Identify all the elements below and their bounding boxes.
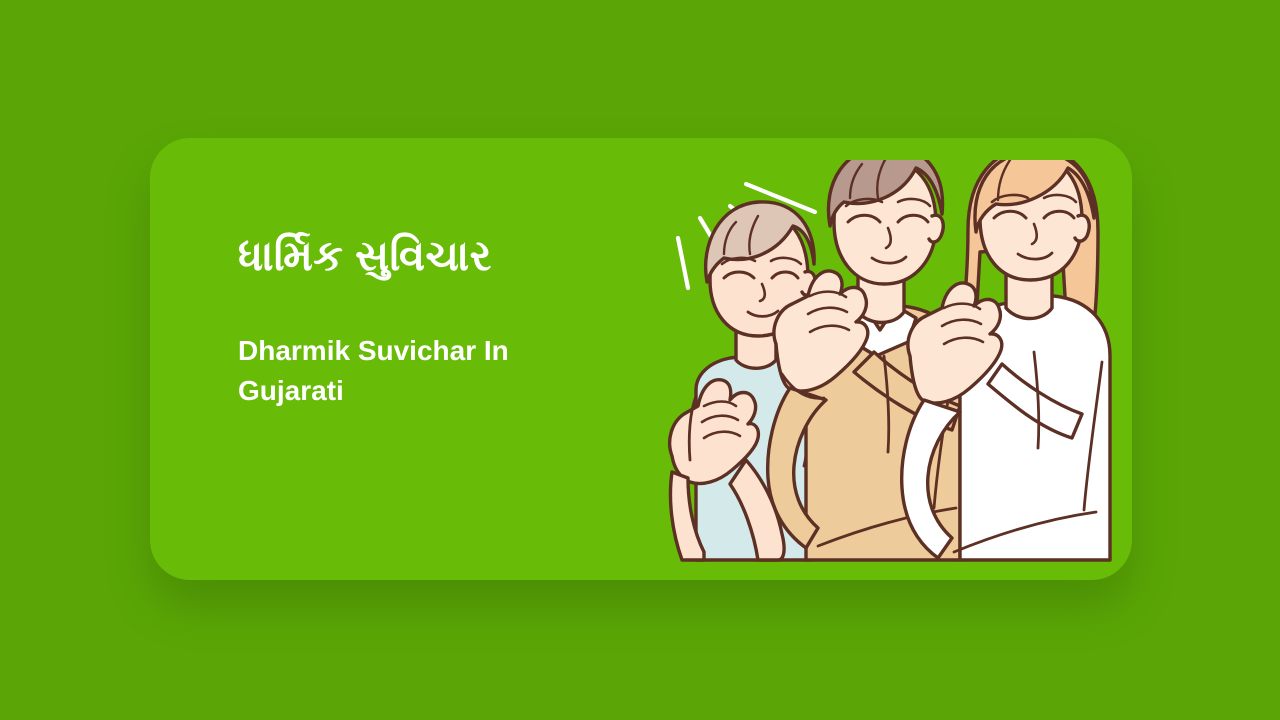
family-praying-illustration <box>658 160 1132 580</box>
page-title: ધાર્મિક સુવિચાર <box>238 230 668 283</box>
text-block: ધાર્મિક સુવિચાર Dharmik Suvichar In Guja… <box>238 230 668 412</box>
page-canvas: ધાર્મિક સુવિચાર Dharmik Suvichar In Guja… <box>0 0 1280 720</box>
content-card: ધાર્મિક સુવિચાર Dharmik Suvichar In Guja… <box>150 138 1132 580</box>
page-subtitle: Dharmik Suvichar In Gujarati <box>238 331 608 412</box>
